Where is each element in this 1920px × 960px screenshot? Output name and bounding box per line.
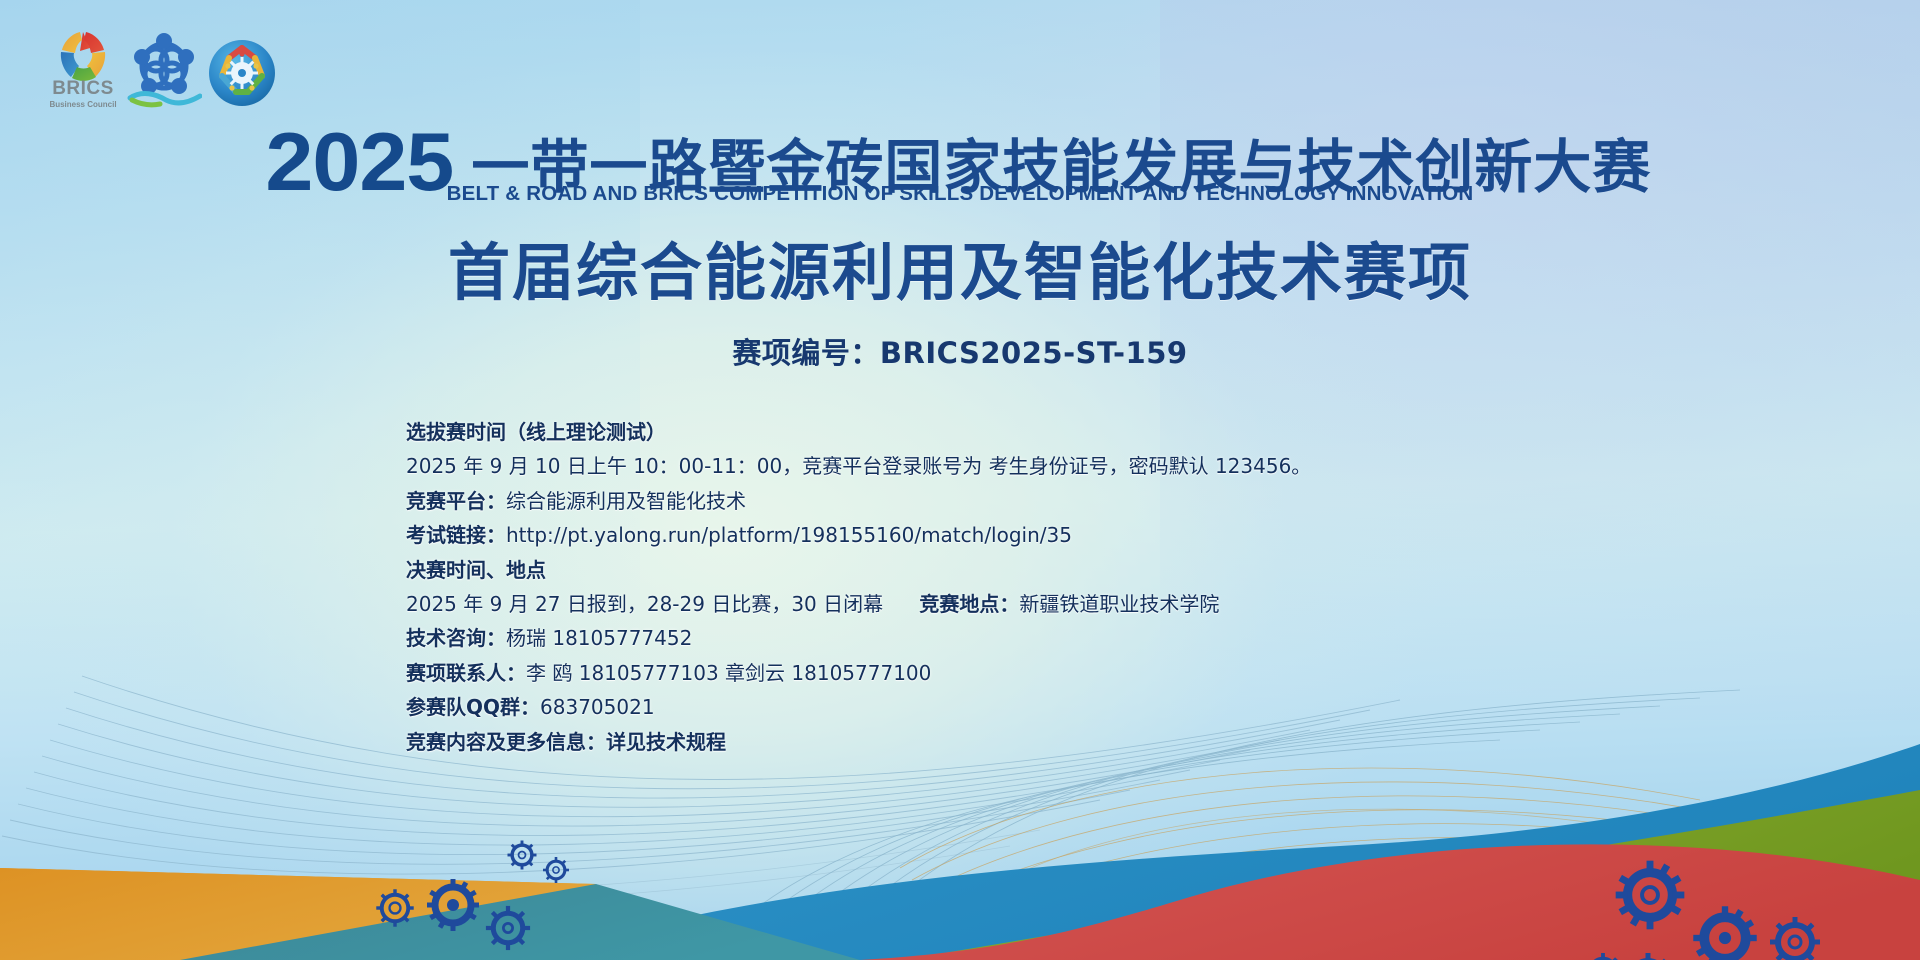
platform-value: 综合能源利用及智能化技术 [506, 489, 746, 513]
final-heading: 决赛时间、地点 [406, 556, 1606, 584]
selection-detail: 2025 年 9 月 10 日上午 10：00-11：00，竞赛平台登录账号为 … [406, 452, 1606, 480]
logo-row: BRICS Business Council [44, 26, 278, 117]
more-info-value: 详见技术规程 [606, 730, 726, 754]
event-subtitle-cn: 首届综合能源利用及智能化技术赛项 [0, 222, 1920, 312]
venue-value: 新疆铁道职业技术学院 [1019, 592, 1219, 616]
exam-link-label: 考试链接： [406, 523, 506, 547]
brics-star-icon [61, 32, 105, 81]
more-info-label: 竞赛内容及更多信息： [406, 730, 606, 754]
more-info-row: 竞赛内容及更多信息：详见技术规程 [406, 728, 1606, 756]
brics-skills-logo [126, 28, 202, 113]
platform-label: 竞赛平台： [406, 489, 506, 513]
brics-business-council-logo: BRICS Business Council [44, 26, 122, 117]
final-detail: 2025 年 9 月 27 日报到，28-29 日比赛，30 日闭幕 [406, 592, 883, 616]
qq-group-value: 683705021 [540, 695, 655, 719]
competition-emblem-logo [206, 36, 278, 115]
platform-row: 竞赛平台：综合能源利用及智能化技术 [406, 487, 1606, 515]
tech-support-row: 技术咨询：杨瑞 18105777452 [406, 624, 1606, 652]
selection-heading: 选拔赛时间（线上理论测试） [406, 418, 1606, 446]
project-code-value: BRICS2025-ST-159 [880, 336, 1188, 370]
project-code: 赛项编号：BRICS2025-ST-159 [0, 330, 1920, 372]
exam-link-value[interactable]: http://pt.yalong.run/platform/198155160/… [506, 523, 1072, 547]
tech-support-value: 杨瑞 18105777452 [506, 626, 692, 650]
exam-link-row: 考试链接：http://pt.yalong.run/platform/19815… [406, 521, 1606, 549]
skills-wave-accent-green [132, 100, 160, 105]
contacts-value: 李 鸥 18105777103 章剑云 18105777100 [526, 661, 931, 685]
final-detail-row: 2025 年 9 月 27 日报到，28-29 日比赛，30 日闭幕 竞赛地点：… [406, 590, 1606, 618]
info-block: 选拔赛时间（线上理论测试） 2025 年 9 月 10 日上午 10：00-11… [406, 418, 1606, 762]
qq-group-label: 参赛队QQ群： [406, 695, 540, 719]
contacts-label: 赛项联系人： [406, 661, 526, 685]
brics-sub-wordmark: Business Council [49, 100, 116, 109]
venue-label: 竞赛地点： [919, 592, 1019, 616]
contacts-row: 赛项联系人：李 鸥 18105777103 章剑云 18105777100 [406, 659, 1606, 687]
project-code-label: 赛项编号： [732, 336, 880, 370]
banner-canvas: BRICS Business Council [0, 0, 1920, 960]
brics-wordmark: BRICS [52, 78, 114, 99]
tech-support-label: 技术咨询： [406, 626, 506, 650]
emblem-gear-icon [226, 57, 258, 89]
competition-title-en: BELT & ROAD AND BRICS COMPETITION OF SKI… [0, 182, 1920, 206]
qq-group-row: 参赛队QQ群：683705021 [406, 693, 1606, 721]
